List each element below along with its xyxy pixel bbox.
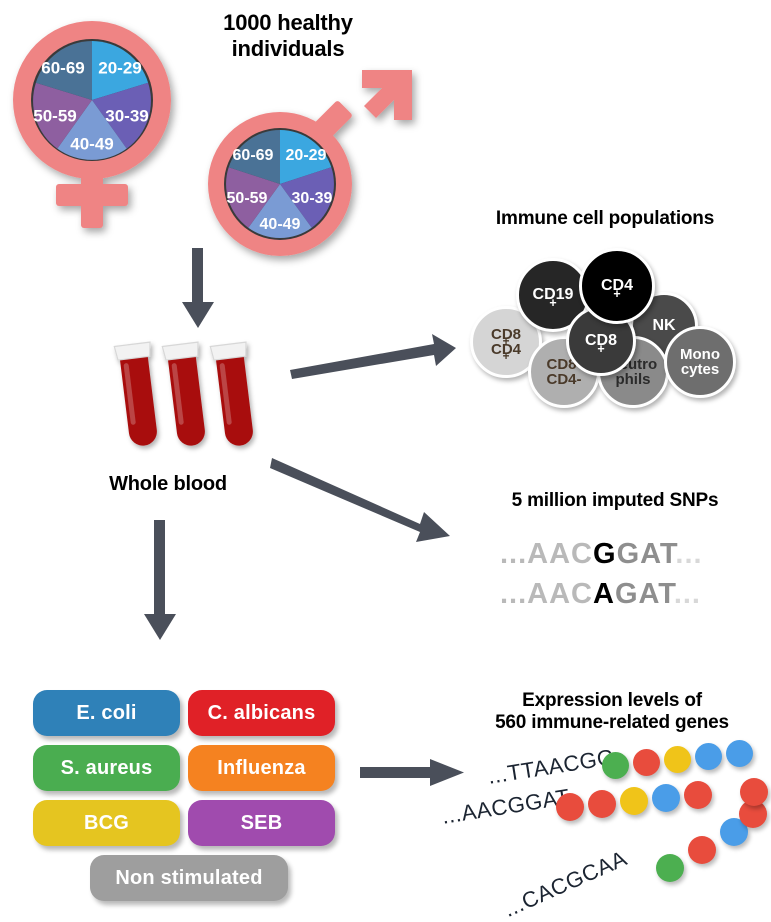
rna-bead [620, 787, 648, 815]
snp-allele-1: ...AACGGAT... [500, 538, 703, 571]
snp-prefix: ...AAC [500, 578, 593, 610]
pie-label-40-49: 40-49 [260, 216, 301, 233]
pie-label-40-49: 40-49 [70, 134, 113, 153]
rna-sequence-2: ...AACGGAT [440, 784, 572, 830]
male-symbol[interactable]: 20-29 30-39 40-49 50-59 60-69 [198, 62, 428, 262]
cell-label-line1: Mono [680, 347, 720, 362]
blood-tube-3 [210, 342, 258, 448]
blood-tubes-svg [108, 336, 278, 464]
expression-heading-line2: 560 immune-related genes [458, 712, 766, 734]
stimulus-label: BCG [84, 812, 129, 835]
stimulus-e-coli[interactable]: E. coli [33, 690, 180, 736]
snp-tail: ... [674, 578, 701, 610]
rna-sequence-1: ...TTAACGG [486, 744, 617, 790]
expression-heading-line1: Expression levels of [458, 690, 766, 712]
snp-suffix: GAT [617, 538, 676, 570]
snps-heading: 5 million imputed SNPs [470, 490, 760, 512]
cohort-heading-line2: individuals [178, 36, 398, 62]
pie-label-30-39: 30-39 [292, 190, 333, 207]
snp-variant-g: G [593, 538, 617, 570]
stimulus-s-aureus[interactable]: S. aureus [33, 745, 180, 791]
cell-monocytes[interactable]: Mono cytes [664, 326, 736, 398]
male-symbol-svg: 20-29 30-39 40-49 50-59 60-69 [198, 62, 428, 262]
pie-label-60-69: 60-69 [233, 147, 274, 164]
stimulus-bcg[interactable]: BCG [33, 800, 180, 846]
figure-canvas: 1000 healthy individuals [0, 0, 771, 922]
stimulus-seb[interactable]: SEB [188, 800, 335, 846]
snp-variant-a: A [593, 578, 615, 610]
cell-label-line2: CD4+ [491, 342, 521, 357]
snp-tail: ... [675, 538, 702, 570]
pie-label-50-59: 50-59 [227, 190, 268, 207]
female-symbol-svg: 20-29 30-39 40-49 50-59 60-69 [8, 12, 193, 237]
rna-bead [695, 743, 722, 770]
stimulus-label: SEB [241, 812, 283, 835]
cell-label: CD8+ [585, 333, 617, 349]
cell-label-line2: CD4- [546, 372, 581, 387]
expression-heading: Expression levels of 560 immune-related … [458, 690, 766, 735]
rna-bead [740, 778, 768, 806]
pie-label-20-29: 20-29 [98, 58, 141, 77]
stimulus-non-stimulated[interactable]: Non stimulated [90, 855, 288, 901]
rna-bead [556, 793, 584, 821]
pie-label-20-29: 20-29 [286, 147, 327, 164]
cell-label: CD4+ [601, 278, 633, 294]
rna-strands: ...TTAACGG ...AACGGAT ...CACGCAA [440, 748, 771, 922]
whole-blood-label: Whole blood [78, 473, 258, 497]
stimulus-label: C. albicans [208, 702, 316, 725]
rna-bead [652, 784, 680, 812]
cell-label: NK [652, 318, 675, 334]
stimulus-label: Influenza [217, 757, 305, 780]
rna-bead [664, 746, 691, 773]
snp-allele-2: ...AACAGAT... [500, 578, 701, 611]
rna-bead [684, 781, 712, 809]
cell-label-line2: cytes [681, 362, 719, 377]
cohort-heading-line1: 1000 healthy [178, 10, 398, 36]
cell-label-line2: phils [615, 372, 650, 387]
immune-cells-heading: Immune cell populations [450, 208, 760, 230]
whole-blood-tubes[interactable] [108, 336, 278, 464]
rna-bead [588, 790, 616, 818]
rna-bead [688, 836, 716, 864]
arrow-blood-to-immune-cells [288, 322, 458, 380]
pie-label-30-39: 30-39 [105, 106, 148, 125]
pie-label-60-69: 60-69 [41, 58, 84, 77]
pie-label-50-59: 50-59 [33, 106, 76, 125]
arrow-blood-to-stimuli [140, 520, 180, 642]
rna-bead [602, 752, 629, 779]
rna-bead [656, 854, 684, 882]
rna-bead [633, 749, 660, 776]
rna-sequence-3: ...CACGCAA [500, 845, 631, 922]
snp-prefix: ...AAC [500, 538, 593, 570]
stimulus-label: Non stimulated [115, 867, 262, 890]
rna-bead [726, 740, 753, 767]
arrow-blood-to-snps [270, 452, 455, 552]
cell-label: CD19+ [533, 287, 574, 303]
stimulus-influenza[interactable]: Influenza [188, 745, 335, 791]
stimulus-label: E. coli [76, 702, 136, 725]
arrow-cohort-to-blood [178, 248, 218, 330]
blood-tube-2 [162, 342, 210, 448]
snp-suffix: GAT [615, 578, 674, 610]
immune-cells-cluster: CD8+ CD4+ CD19+ CD4+ CD8+ NK Mono cytes … [466, 248, 766, 418]
cohort-heading: 1000 healthy individuals [178, 10, 398, 62]
cell-cd4plus[interactable]: CD4+ [579, 248, 655, 324]
stimulus-label: S. aureus [61, 757, 153, 780]
female-symbol[interactable]: 20-29 30-39 40-49 50-59 60-69 [8, 12, 193, 237]
stimulus-c-albicans[interactable]: C. albicans [188, 690, 335, 736]
blood-tube-1 [114, 342, 162, 448]
cell-label-line1: CD8+ [491, 327, 521, 342]
